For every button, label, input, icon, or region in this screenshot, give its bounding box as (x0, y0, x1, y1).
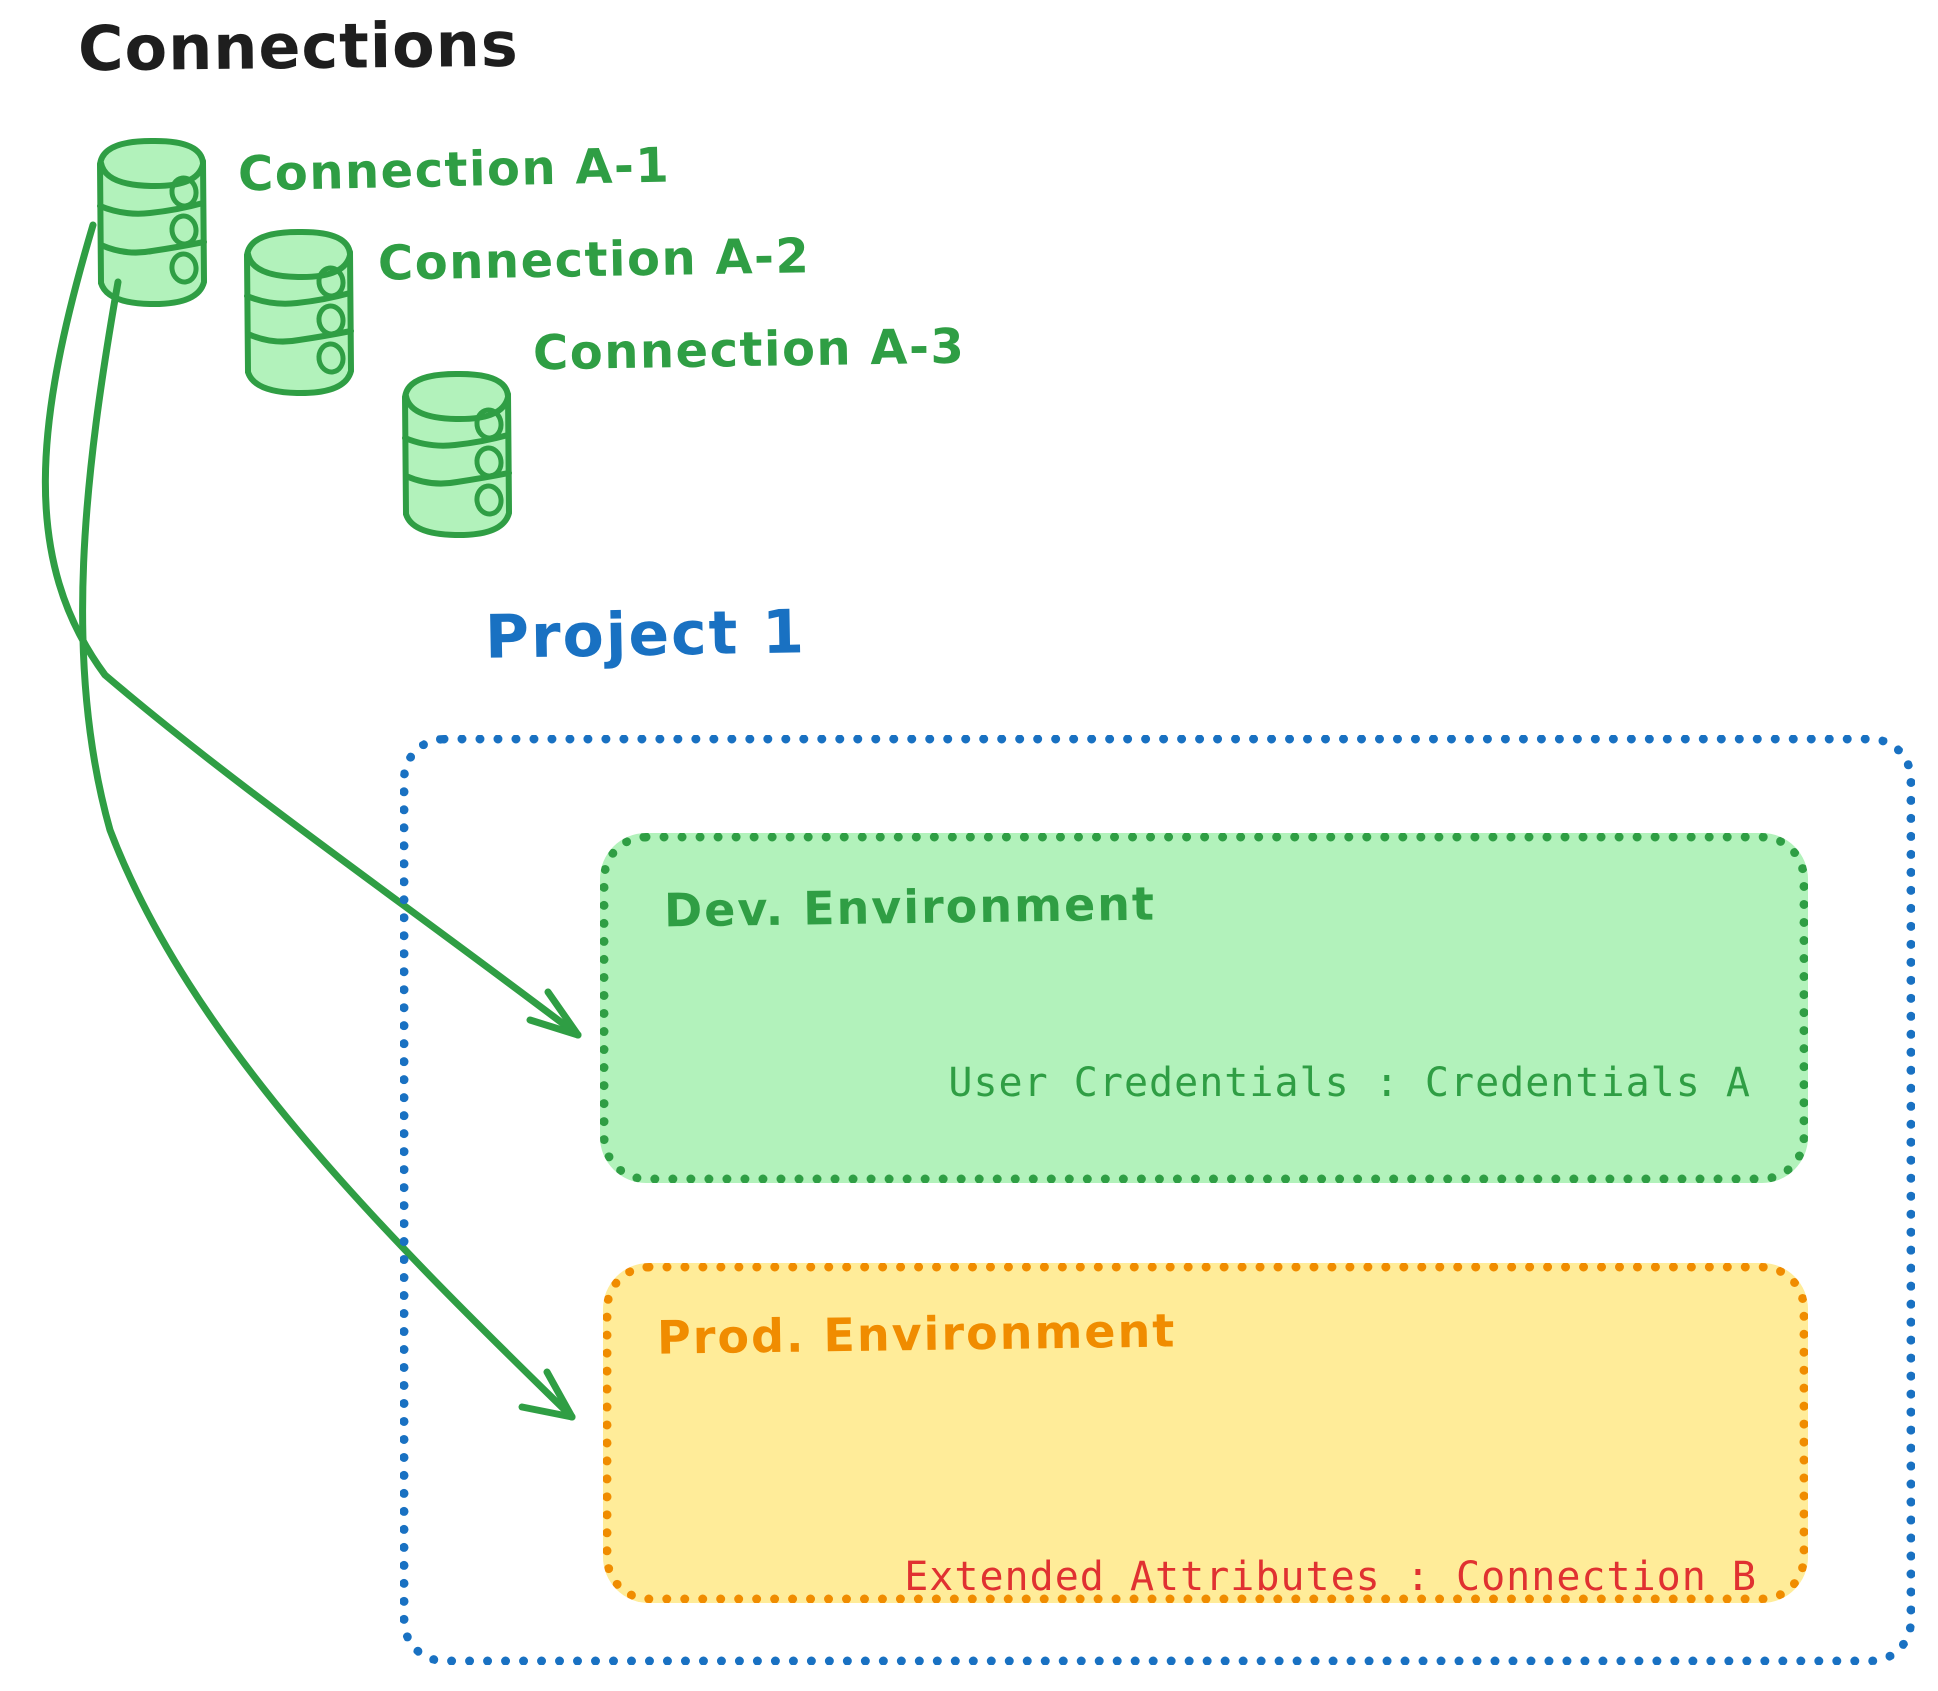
database-cylinder-icon-2 (247, 231, 351, 393)
prod-attribute-lines: Extended Attributes : Connection B Ext.A… (879, 1435, 1757, 1691)
dev-environment-box: Dev. Environment User Credentials : Cred… (600, 833, 1808, 1183)
database-cylinder-icon-1 (100, 140, 204, 304)
project-title: Project 1 (484, 597, 806, 673)
prod-environment-title: Prod. Environment (657, 1303, 1177, 1364)
diagram-canvas: .dbFill { fill:#b2f2bb; } .dbStroke { fi… (0, 0, 1938, 1691)
prod-extended-attributes-line: Extended Attributes : Connection B (879, 1549, 1757, 1606)
dev-environment-title: Dev. Environment (664, 877, 1157, 938)
dev-user-credentials-line: User Credentials : Credentials A (948, 1060, 1751, 1106)
prod-environment-box: Prod. Environment Extended Attributes : … (603, 1263, 1808, 1603)
database-cylinder-icon-3 (405, 373, 509, 535)
connection-label-a2: Connection A-2 (378, 228, 811, 292)
connection-label-a1: Connection A-1 (237, 137, 670, 202)
connection-label-a3: Connection A-3 (533, 319, 966, 382)
page-title: Connections (78, 8, 519, 86)
